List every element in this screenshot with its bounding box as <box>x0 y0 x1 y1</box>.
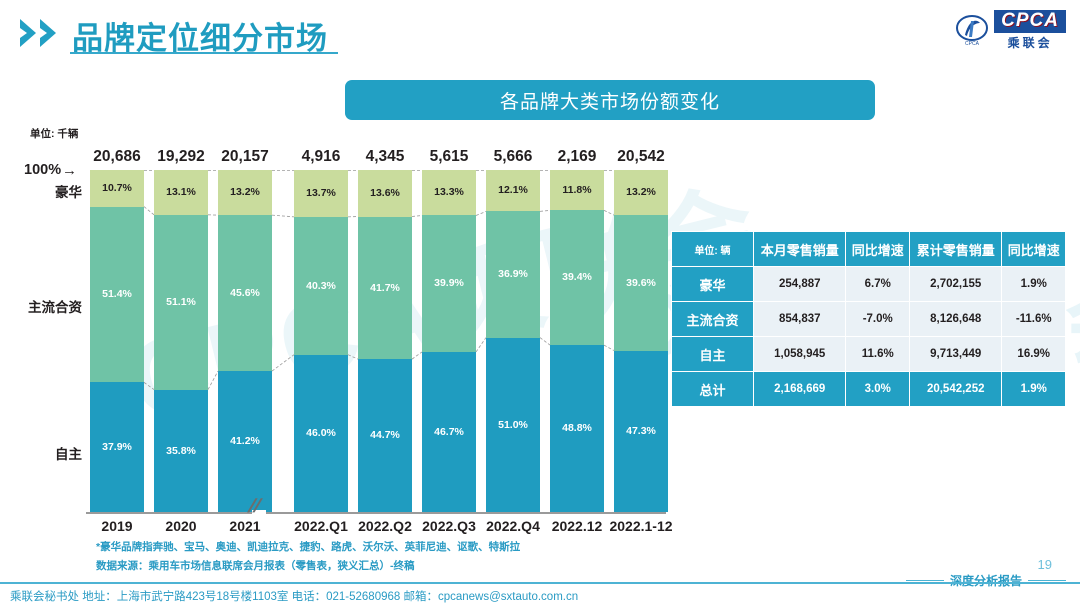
bar-segment-value-label: 46.0% <box>306 428 336 439</box>
axis-100-percent-label: 100% <box>24 162 61 178</box>
table-header-month-yoy: 同比增速 <box>846 232 910 267</box>
bar-segment-value-label: 48.8% <box>562 423 592 434</box>
bar-segment-domestic: 46.7% <box>422 352 476 512</box>
table-cell-month-sales: 254,887 <box>754 267 846 302</box>
table-header-row: 单位: 辆 本月零售销量 同比增速 累计零售销量 同比增速 <box>672 232 1066 267</box>
bar-segment-joint-venture: 39.4% <box>550 210 604 345</box>
bar-segment-joint-venture: 41.7% <box>358 217 412 360</box>
table-header: 单位: 辆 本月零售销量 同比增速 累计零售销量 同比增速 <box>672 232 1066 267</box>
bar-total-label: 19,292 <box>157 148 204 166</box>
x-axis-tick-2021: 2021 <box>205 518 285 534</box>
bar-segment-domestic: 47.3% <box>614 351 668 513</box>
bar-segment-luxury: 12.1% <box>486 170 540 211</box>
table-cell-cumulative-yoy: 1.9% <box>1002 372 1066 407</box>
bar-segment-value-label: 46.7% <box>434 427 464 438</box>
bar-segment-value-label: 13.6% <box>370 188 400 199</box>
x-axis-line <box>86 512 666 514</box>
bar-segment-value-label: 35.8% <box>166 446 196 457</box>
table-header-cum-sales: 累计零售销量 <box>909 232 1001 267</box>
table-cell-month-sales: 2,168,669 <box>754 372 846 407</box>
double-chevron-right-icon <box>18 16 70 50</box>
series-label-domestic: 自主 <box>20 443 82 463</box>
table-row: 豪华254,8876.7%2,702,1551.9% <box>672 267 1066 302</box>
sales-summary-table: 单位: 辆 本月零售销量 同比增速 累计零售销量 同比增速 豪华254,8876… <box>671 231 1066 407</box>
chart-title-banner: 各品牌大类市场份额变化 <box>345 80 875 120</box>
bar-segment-value-label: 13.2% <box>626 187 656 198</box>
footer-report-label: 深度分析报告 <box>950 572 1022 589</box>
bar-segment-joint-venture: 39.9% <box>422 215 476 351</box>
table-row: 主流合资854,837-7.0%8,126,648-11.6% <box>672 302 1066 337</box>
bar-column-2022.Q3: 5,61513.3%39.9%46.7% <box>422 170 476 512</box>
bar-segment-domestic: 44.7% <box>358 359 412 512</box>
bar-total-label: 4,345 <box>366 148 405 166</box>
slide-page: CPCA乘联会 CPCA乘联会 品牌定位细分市场 CPCA CPCA 乘联会 各… <box>0 0 1080 608</box>
bar-segment-value-label: 44.7% <box>370 430 400 441</box>
bar-segment-value-label: 11.8% <box>562 185 591 196</box>
bar-segment-domestic: 48.8% <box>550 345 604 512</box>
page-number: 19 <box>1038 557 1052 572</box>
table-cell-month-sales: 854,837 <box>754 302 846 337</box>
bar-segment-luxury: 13.7% <box>294 170 348 217</box>
bar-segment-value-label: 41.2% <box>230 436 260 447</box>
bar-segment-joint-venture: 39.6% <box>614 215 668 350</box>
bar-segment-value-label: 51.1% <box>166 297 196 308</box>
bar-column-2021: 20,15713.2%45.6%41.2% <box>218 170 272 512</box>
bar-column-2019: 20,68610.7%51.4%37.9% <box>90 170 144 512</box>
bar-segment-value-label: 10.7% <box>102 183 132 194</box>
bar-total-label: 2,169 <box>558 148 597 166</box>
bar-column-2022.12: 2,16911.8%39.4%48.8% <box>550 170 604 512</box>
cpca-emblem-icon: CPCA <box>955 13 989 47</box>
table-row-label: 主流合资 <box>672 302 754 337</box>
bar-total-label: 4,916 <box>302 148 341 166</box>
bar-segment-value-label: 37.9% <box>102 442 132 453</box>
table-cell-cumulative-yoy: 16.9% <box>1002 337 1066 372</box>
bar-segment-domestic: 37.9% <box>90 382 144 512</box>
bar-segment-joint-venture: 36.9% <box>486 211 540 337</box>
chart-unit-label: 单位: 千辆 <box>30 126 78 141</box>
table-cell-month-yoy: 3.0% <box>846 372 910 407</box>
table-cell-month-sales: 1,058,945 <box>754 337 846 372</box>
bar-segment-luxury: 11.8% <box>550 170 604 210</box>
bar-total-label: 20,157 <box>221 148 268 166</box>
bar-segment-luxury: 13.6% <box>358 170 412 217</box>
bar-total-label: 5,666 <box>494 148 533 166</box>
axis-arrow-icon: → <box>62 162 77 179</box>
footer-divider <box>0 582 1080 584</box>
bar-segment-value-label: 13.3% <box>434 187 464 198</box>
svg-text:CPCA: CPCA <box>965 41 980 47</box>
table-cell-month-yoy: -7.0% <box>846 302 910 337</box>
table-cell-cumulative-yoy: -11.6% <box>1002 302 1066 337</box>
bar-segment-value-label: 39.4% <box>562 272 592 283</box>
bar-segment-value-label: 13.2% <box>230 187 260 198</box>
table-cell-cumulative-yoy: 1.9% <box>1002 267 1066 302</box>
logo-cpca-chinese: 乘联会 <box>1008 34 1053 51</box>
table-row-label: 豪华 <box>672 267 754 302</box>
table-cell-month-yoy: 11.6% <box>846 337 910 372</box>
bar-segment-value-label: 51.0% <box>498 420 528 431</box>
table-cell-cumulative-sales: 2,702,155 <box>909 267 1001 302</box>
bar-segment-value-label: 47.3% <box>626 426 656 437</box>
bar-segment-value-label: 36.9% <box>498 269 528 280</box>
bar-segment-value-label: 39.6% <box>626 278 656 289</box>
bar-segment-luxury: 10.7% <box>90 170 144 207</box>
logo-cpca-text: CPCA <box>994 10 1066 33</box>
table-body: 豪华254,8876.7%2,702,1551.9%主流合资854,837-7.… <box>672 267 1066 407</box>
bar-segment-joint-venture: 40.3% <box>294 217 348 355</box>
bar-segment-value-label: 51.4% <box>102 289 132 300</box>
footer-contact-text: 乘联会秘书处 地址：上海市武宁路423号18号楼1103室 电话：021-526… <box>10 588 578 604</box>
bar-segment-luxury: 13.3% <box>422 170 476 215</box>
bar-column-2022.Q2: 4,34513.6%41.7%44.7% <box>358 170 412 512</box>
bar-segment-luxury: 13.1% <box>154 170 208 215</box>
stacked-bar-chart: 20,68610.7%51.4%37.9%19,29213.1%51.1%35.… <box>86 170 660 512</box>
footnote-luxury-brands: *豪华品牌指奔驰、宝马、奥迪、凯迪拉克、捷豹、路虎、沃尔沃、英菲尼迪、讴歌、特斯… <box>96 539 520 554</box>
cpca-logo: CPCA CPCA 乘联会 <box>955 10 1066 51</box>
table-row: 总计2,168,6693.0%20,542,2521.9% <box>672 372 1066 407</box>
series-label-joint-venture: 主流合资 <box>20 296 82 316</box>
bar-total-label: 20,542 <box>617 148 664 166</box>
bar-segment-joint-venture: 51.4% <box>90 207 144 383</box>
bar-segment-luxury: 13.2% <box>614 170 668 215</box>
bar-total-label: 20,686 <box>93 148 140 166</box>
table-header-cum-yoy: 同比增速 <box>1002 232 1066 267</box>
bar-total-label: 5,615 <box>430 148 469 166</box>
bar-segment-value-label: 13.1% <box>166 187 196 198</box>
footnote-data-source: 数据来源：乘用车市场信息联席会月报表（零售表，狭义汇总）-终稿 <box>96 558 415 573</box>
bar-column-2022.Q4: 5,66612.1%36.9%51.0% <box>486 170 540 512</box>
table-cell-month-yoy: 6.7% <box>846 267 910 302</box>
bar-segment-joint-venture: 45.6% <box>218 215 272 371</box>
table-cell-cumulative-sales: 9,713,449 <box>909 337 1001 372</box>
footer-report-label-group: 深度分析报告 <box>906 572 1066 589</box>
bar-column-2022.1-12: 20,54213.2%39.6%47.3% <box>614 170 668 512</box>
table-row-label: 总计 <box>672 372 754 407</box>
bar-segment-domestic: 35.8% <box>154 390 208 512</box>
table-header-unit: 单位: 辆 <box>672 232 754 267</box>
table-header-month-sales: 本月零售销量 <box>754 232 846 267</box>
bar-segment-value-label: 12.1% <box>498 185 528 196</box>
table-row: 自主1,058,94511.6%9,713,44916.9% <box>672 337 1066 372</box>
table-cell-cumulative-sales: 20,542,252 <box>909 372 1001 407</box>
bar-segment-domestic: 41.2% <box>218 371 272 512</box>
table-cell-cumulative-sales: 8,126,648 <box>909 302 1001 337</box>
logo-wordmark: CPCA 乘联会 <box>994 10 1066 51</box>
bar-segment-luxury: 13.2% <box>218 170 272 215</box>
series-label-luxury: 豪华 <box>20 181 82 201</box>
bar-segment-value-label: 41.7% <box>370 283 400 294</box>
bar-segment-domestic: 51.0% <box>486 338 540 512</box>
bar-segment-value-label: 45.6% <box>230 288 260 299</box>
bar-column-2022.Q1: 4,91613.7%40.3%46.0% <box>294 170 348 512</box>
table-row-label: 自主 <box>672 337 754 372</box>
x-axis-tick-2022.1-12: 2022.1-12 <box>601 518 681 534</box>
bar-column-2020: 19,29213.1%51.1%35.8% <box>154 170 208 512</box>
bar-segment-value-label: 13.7% <box>306 188 336 199</box>
bar-segment-value-label: 39.9% <box>434 278 464 289</box>
bar-segment-joint-venture: 51.1% <box>154 215 208 390</box>
bar-segment-domestic: 46.0% <box>294 355 348 512</box>
title-underline <box>70 52 338 54</box>
bar-segment-value-label: 40.3% <box>306 281 336 292</box>
